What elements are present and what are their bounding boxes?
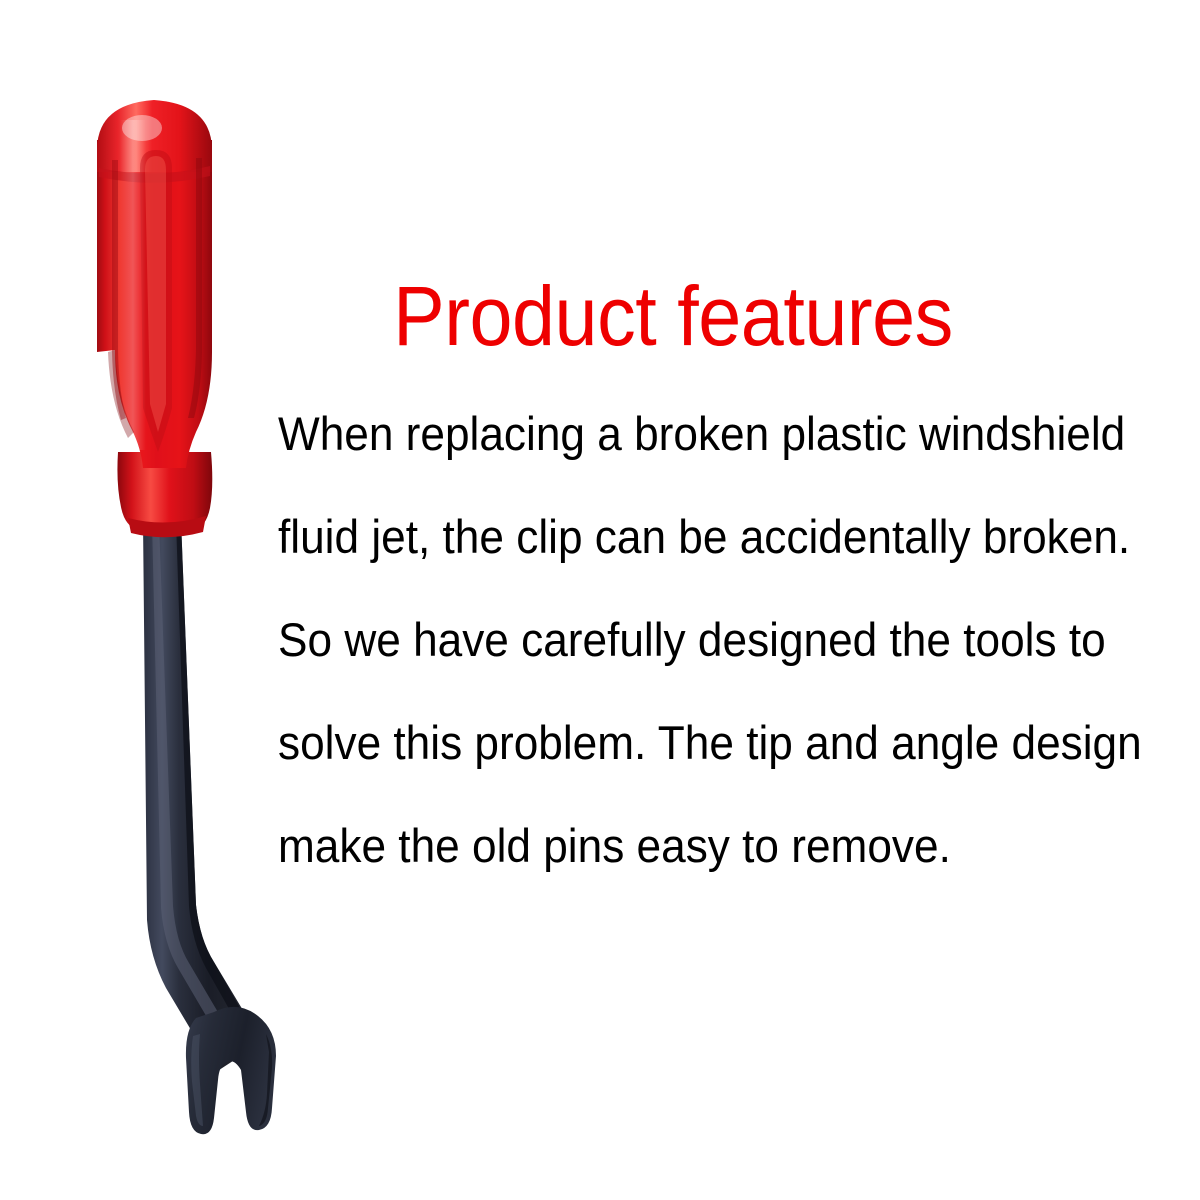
description-line: fluid jet, the clip can be accidentally …: [278, 485, 1105, 588]
product-feature-image: Product features When replacing a broken…: [0, 0, 1200, 1200]
description-line: So we have carefully designed the tools …: [278, 588, 1105, 691]
forked-pry-tip: [186, 1007, 276, 1134]
feature-description: When replacing a broken plastic windshie…: [278, 382, 1158, 897]
tool-shaft-group: [143, 520, 262, 1072]
text-column: Product features When replacing a broken…: [278, 0, 1158, 1200]
handle-cap-glint: [122, 115, 162, 141]
description-line: make the old pins easy to remove.: [278, 794, 1105, 897]
handle-specular-highlight: [120, 120, 146, 450]
description-line: solve this problem. The tip and angle de…: [278, 691, 1105, 794]
description-line: When replacing a broken plastic windshie…: [278, 382, 1105, 485]
page-title: Product features: [310, 274, 1037, 358]
red-plastic-handle: [97, 100, 212, 537]
